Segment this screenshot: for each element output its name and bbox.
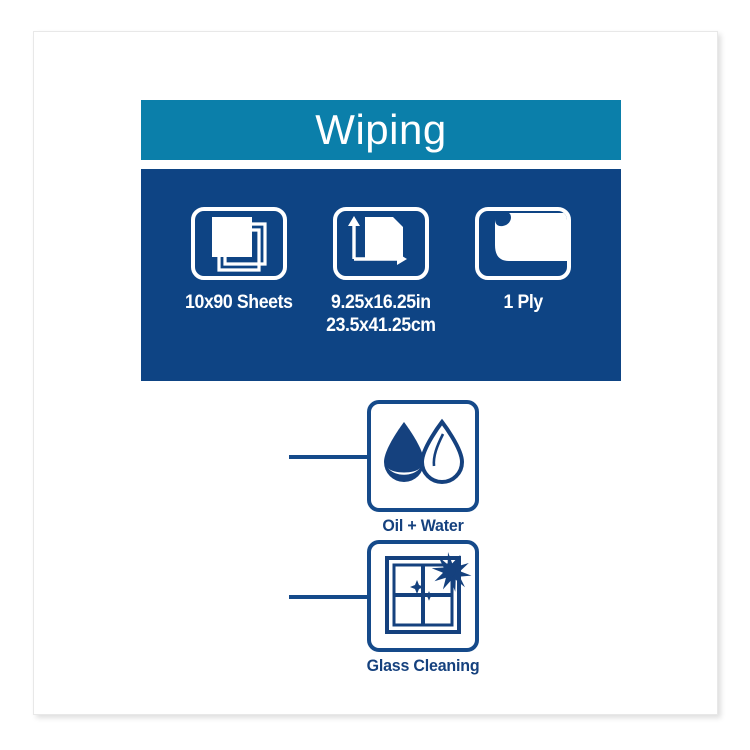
spec-label-dimensions: 9.25x16.25in 23.5x41.25cm: [326, 291, 436, 337]
specs-panel: 10x90 Sheets 9.25x16.25in: [141, 169, 621, 381]
feature-item-oil-water: Oil + Water: [141, 400, 621, 530]
oil-water-droplets-icon: [367, 400, 479, 512]
product-spec-card: Wiping 10x90 Sheets: [33, 31, 718, 715]
sheet-dimensions-icon: [333, 207, 429, 280]
spec-item-sheets: 10x90 Sheets: [168, 207, 310, 314]
feature-label-oil-water: Oil + Water: [305, 516, 542, 536]
spec-item-ply: 1 Ply: [452, 207, 594, 314]
header-band: Wiping: [141, 100, 621, 160]
sheet-stack-icon: [191, 207, 287, 280]
specs-row: 10x90 Sheets 9.25x16.25in: [141, 169, 621, 337]
glass-cleaning-window-icon: [367, 540, 479, 652]
spec-label-ply: 1 Ply: [503, 291, 542, 314]
feature-label-glass-cleaning: Glass Cleaning: [305, 656, 542, 676]
spec-item-dimensions: 9.25x16.25in 23.5x41.25cm: [310, 207, 452, 337]
feature-item-glass-cleaning: Glass Cleaning: [141, 540, 621, 670]
spec-label-sheets: 10x90 Sheets: [185, 291, 293, 314]
single-ply-sheet-icon: [475, 207, 571, 280]
page-title: Wiping: [315, 109, 446, 151]
